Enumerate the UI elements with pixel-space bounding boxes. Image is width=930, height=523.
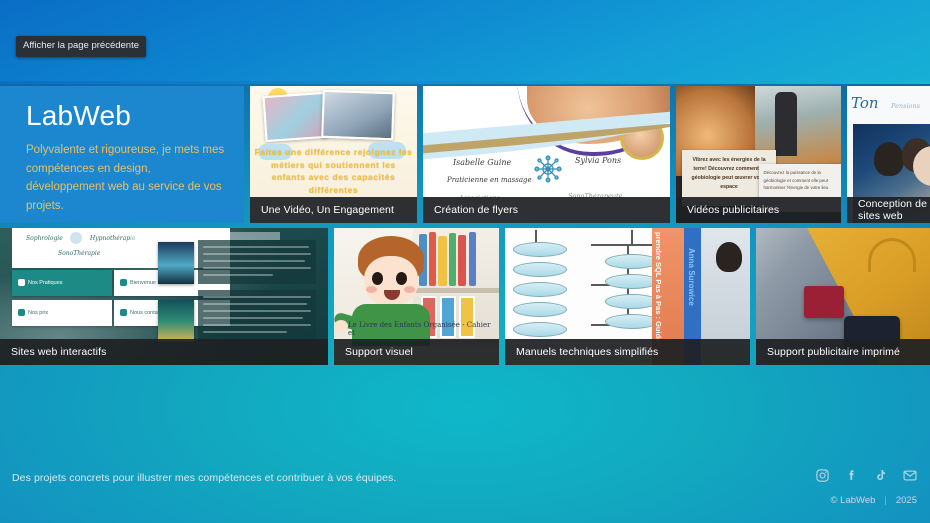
card-label: Conception de sites web xyxy=(847,197,930,223)
facebook-icon[interactable] xyxy=(844,468,859,483)
card-label: Création de flyers xyxy=(423,197,670,223)
site-logo: Ton xyxy=(851,94,879,112)
site-heading-3: SonoThérapie xyxy=(58,250,100,257)
copyright-bar: © LabWeb | 2025 xyxy=(831,495,917,506)
card-label: Manuels techniques simplifiés xyxy=(505,339,750,365)
email-icon[interactable] xyxy=(902,468,918,483)
project-card-support-publicitaire-imprime[interactable]: Support publicitaire imprimé xyxy=(756,228,930,365)
book-title-vertical: prendre SQL Pas à Pas : Guide xyxy=(654,232,663,342)
book-title-caption: Le Livre des Enfants Organisée - Cahier … xyxy=(348,321,499,337)
copyright-year: 2025 xyxy=(896,495,917,506)
copyright-separator: | xyxy=(884,495,886,506)
photo-thumb xyxy=(158,300,194,342)
card-label: Vidéos publicitaires xyxy=(676,197,841,223)
nav-tile[interactable]: Nos prix xyxy=(12,300,112,326)
character-hand xyxy=(334,320,348,332)
person-head xyxy=(874,142,904,176)
hand-icon xyxy=(120,279,127,286)
card-label: Sites web interactifs xyxy=(0,339,328,365)
poster-headline: Faites une différence rejoignez les méti… xyxy=(254,146,413,196)
project-card-sites-web-interactifs[interactable]: Sophrologie Hypnothérapie SonoThérapie N… xyxy=(0,228,328,365)
site-menu-item: Pensions xyxy=(891,102,920,110)
project-card-manuels-techniques-simplifies[interactable]: prendre SQL Pas à Pas : Guide Anna Surow… xyxy=(505,228,750,365)
project-row-2: Sophrologie Hypnothérapie SonoThérapie N… xyxy=(0,228,930,365)
nav-tile-label: Nos Pratiques xyxy=(28,280,63,286)
instagram-icon[interactable] xyxy=(815,468,830,483)
nav-tile-active[interactable]: Nos Pratiques xyxy=(12,270,112,296)
copyright-text: © LabWeb xyxy=(831,495,876,506)
photo-thumb xyxy=(321,90,395,140)
flyer-practitioner-name: Isabelle Guine xyxy=(453,158,511,167)
flyer-practitioner-role: Praticienne en massage xyxy=(447,176,532,184)
photo-thumb xyxy=(158,242,194,284)
site-heading-2: Hypnothérapie xyxy=(90,235,136,242)
author-name-vertical: Anna Surowice xyxy=(687,248,696,306)
project-grid: LabWeb Polyvalente et rigoureuse, je met… xyxy=(0,86,930,370)
social-links xyxy=(815,468,918,483)
card-label: Support visuel xyxy=(334,339,499,365)
card-label: Une Vidéo, Un Engagement xyxy=(250,197,417,223)
project-card-une-video-un-engagement[interactable]: Faites une différence rejoignez les méti… xyxy=(250,86,417,223)
leaf-icon xyxy=(18,279,25,286)
handbag-red xyxy=(804,286,844,318)
emblem-icon xyxy=(70,232,82,244)
project-card-creation-de-flyers[interactable]: Isabelle Guine Praticienne en massage Sy… xyxy=(423,86,670,223)
character-cheek xyxy=(366,286,377,293)
person-silhouette xyxy=(775,92,797,156)
person-head xyxy=(716,242,742,272)
nav-tile-label: Bienvenue xyxy=(130,280,156,286)
flyer-practitioner-name-2: Sylvia Pons xyxy=(575,156,621,165)
intro-tagline: Polyvalente et rigoureuse, je mets mes c… xyxy=(26,141,226,216)
mandala-icon xyxy=(531,152,565,186)
page-title: LabWeb xyxy=(26,100,226,132)
project-card-conception-de-sites-web[interactable]: Ton Pensions Lieu Conception de sites we… xyxy=(847,86,930,223)
tiktok-icon[interactable] xyxy=(873,468,888,483)
chat-icon xyxy=(120,309,127,316)
nav-tile-label: Nos prix xyxy=(28,310,48,316)
back-navigation-tooltip: Afficher la page précédente xyxy=(16,36,146,57)
site-heading-1: Sophrologie xyxy=(26,235,63,242)
photo-thumb xyxy=(262,92,327,142)
intro-panel: LabWeb Polyvalente et rigoureuse, je met… xyxy=(0,86,244,223)
footer-tagline: Des projets concrets pour illustrer mes … xyxy=(12,472,396,484)
video-caption-text-2: Découvrez la puissance de la géobiologie… xyxy=(764,169,837,192)
project-row-1: LabWeb Polyvalente et rigoureuse, je met… xyxy=(0,86,930,223)
character-eye xyxy=(396,272,407,285)
character-cheek xyxy=(404,286,415,293)
price-icon xyxy=(18,309,25,316)
project-card-support-visuel[interactable]: Le Livre des Enfants Organisée - Cahier … xyxy=(334,228,499,365)
content-strip xyxy=(130,232,280,240)
project-card-videos-publicitaires[interactable]: Vibrez avec les énergies de la terre! Dé… xyxy=(676,86,841,223)
card-label: Support publicitaire imprimé xyxy=(756,339,930,365)
character-eye xyxy=(372,272,383,285)
